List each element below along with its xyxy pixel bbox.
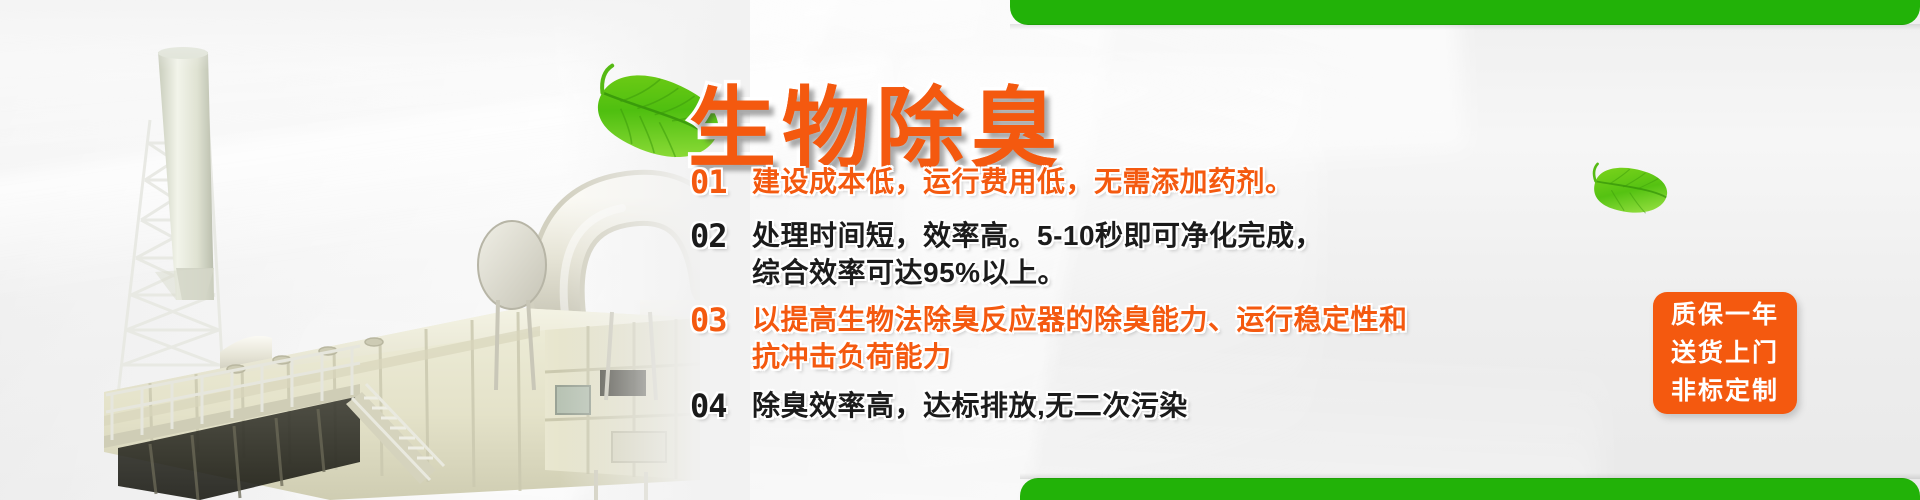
feature-list: 01 建设成本低，运行费用低，无需添加药剂。 02 处理时间短，效率高。5-10…	[690, 163, 1670, 431]
feature-number: 02	[690, 217, 752, 255]
feature-number: 01	[690, 163, 752, 201]
feature-line: 抗冲击负荷能力	[752, 338, 1408, 375]
promotional-banner: 生物除臭 生物除臭 01 建设成本低，运行费用低，无需添加药剂。 02 处理时间…	[0, 0, 1920, 500]
feature-line: 除臭效率高，达标排放,无二次污染	[752, 387, 1188, 424]
green-accent-bar-bottom	[1020, 478, 1920, 500]
feature-line: 建设成本低，运行费用低，无需添加药剂。	[752, 163, 1294, 200]
green-accent-bar-top	[1010, 0, 1920, 25]
feature-item-04: 04 除臭效率高，达标排放,无二次污染	[690, 387, 1670, 425]
feature-number: 04	[690, 387, 752, 425]
badge-line-warranty: 质保一年	[1671, 296, 1779, 334]
feature-text: 以提高生物法除臭反应器的除臭能力、运行稳定性和 抗冲击负荷能力	[752, 301, 1408, 375]
badge-line-customization: 非标定制	[1671, 372, 1779, 410]
service-guarantee-badge: 质保一年 送货上门 非标定制	[1653, 292, 1797, 414]
feature-item-01: 01 建设成本低，运行费用低，无需添加药剂。	[690, 163, 1670, 201]
feature-text: 建设成本低，运行费用低，无需添加药剂。	[752, 163, 1294, 200]
feature-text: 处理时间短，效率高。5-10秒即可净化完成， 综合效率可达95%以上。	[752, 217, 1323, 291]
feature-line: 以提高生物法除臭反应器的除臭能力、运行稳定性和	[752, 301, 1408, 338]
feature-number: 03	[690, 301, 752, 339]
feature-line: 综合效率可达95%以上。	[752, 254, 1323, 291]
feature-text: 除臭效率高，达标排放,无二次污染	[752, 387, 1188, 424]
badge-line-delivery: 送货上门	[1671, 334, 1779, 372]
feature-item-02: 02 处理时间短，效率高。5-10秒即可净化完成， 综合效率可达95%以上。	[690, 217, 1670, 291]
feature-item-03: 03 以提高生物法除臭反应器的除臭能力、运行稳定性和 抗冲击负荷能力	[690, 301, 1670, 375]
feature-line: 处理时间短，效率高。5-10秒即可净化完成，	[752, 217, 1323, 254]
